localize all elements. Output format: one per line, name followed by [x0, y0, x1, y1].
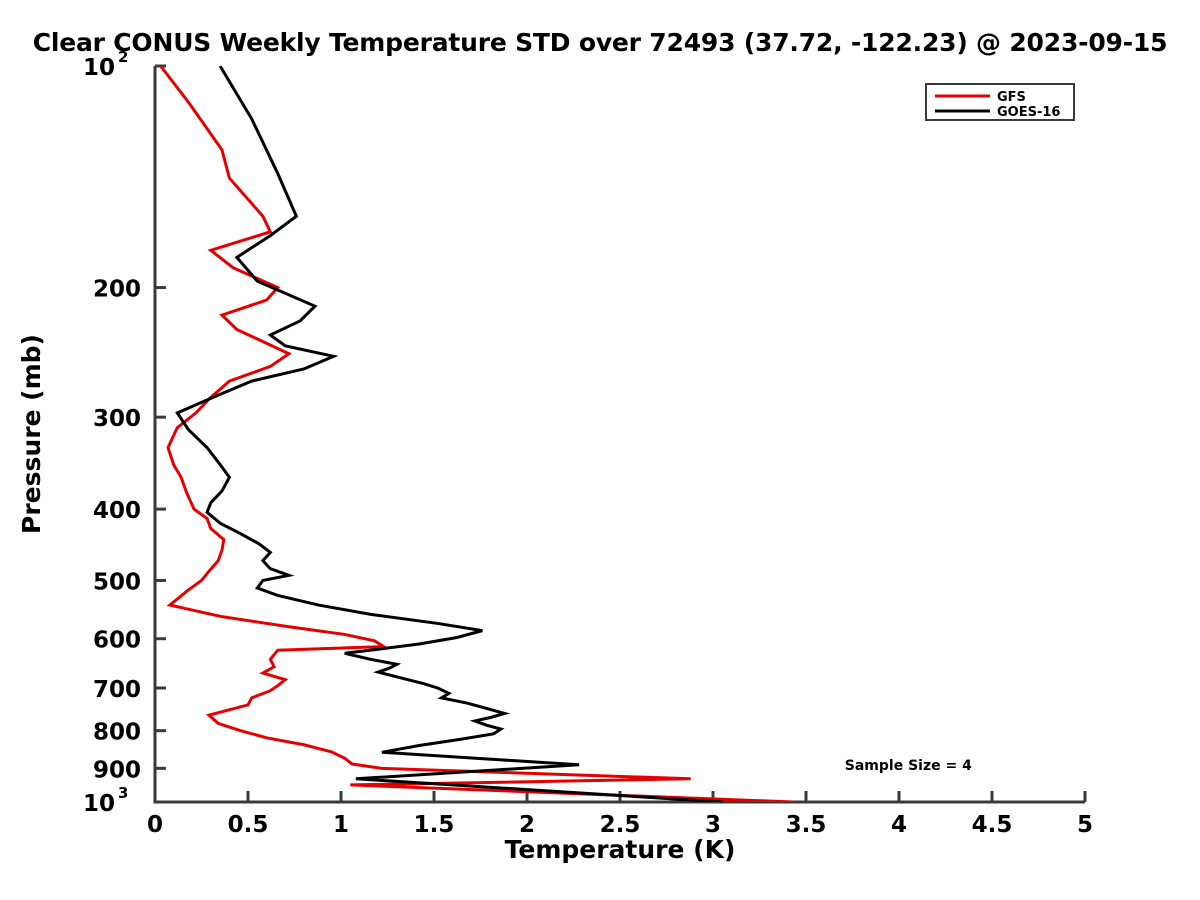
y-tick-label: 200	[93, 277, 141, 303]
y-tick-label: 103	[83, 784, 128, 817]
y-tick-label: 300	[93, 406, 141, 432]
chart-legend: GFSGOES-16	[926, 84, 1074, 120]
y-tick-label: 500	[93, 569, 141, 595]
x-tick-label: 5	[1077, 812, 1093, 838]
y-tick-label: 102	[83, 48, 128, 81]
svg-text:3: 3	[118, 784, 128, 802]
y-tick-label: 600	[93, 628, 141, 654]
x-axis-ticks: 00.511.522.533.544.55	[147, 791, 1093, 838]
axis-frame	[155, 66, 1085, 802]
y-tick-label: 400	[93, 498, 141, 524]
series-line-goes-16	[177, 66, 722, 802]
annotation-group: Sample Size = 4	[845, 758, 972, 774]
chart-canvas: Clear CONUS Weekly Temperature STD over …	[0, 0, 1200, 900]
x-tick-label: 1.5	[414, 812, 455, 838]
y-axis-label: Pressure (mb)	[17, 334, 46, 534]
x-tick-label: 1	[333, 812, 349, 838]
x-tick-label: 0	[147, 812, 163, 838]
svg-text:2: 2	[118, 48, 128, 66]
x-tick-label: 4	[891, 812, 907, 838]
svg-text:10: 10	[83, 55, 115, 81]
y-tick-label: 700	[93, 677, 141, 703]
y-tick-label: 900	[93, 757, 141, 783]
x-axis-label: Temperature (K)	[505, 835, 736, 864]
series-line-gfs	[161, 66, 793, 802]
legend-label-goes-16: GOES-16	[997, 105, 1060, 120]
y-tick-label: 800	[93, 720, 141, 746]
temperature-std-profile-chart: 00.511.522.533.544.55 102200300400500600…	[0, 0, 1200, 900]
x-tick-label: 3.5	[786, 812, 827, 838]
legend-label-gfs: GFS	[997, 90, 1026, 105]
x-tick-label: 0.5	[228, 812, 269, 838]
x-tick-label: 4.5	[972, 812, 1013, 838]
data-series-group	[161, 66, 793, 802]
sample-size-annotation: Sample Size = 4	[845, 758, 972, 774]
svg-text:10: 10	[83, 791, 115, 817]
